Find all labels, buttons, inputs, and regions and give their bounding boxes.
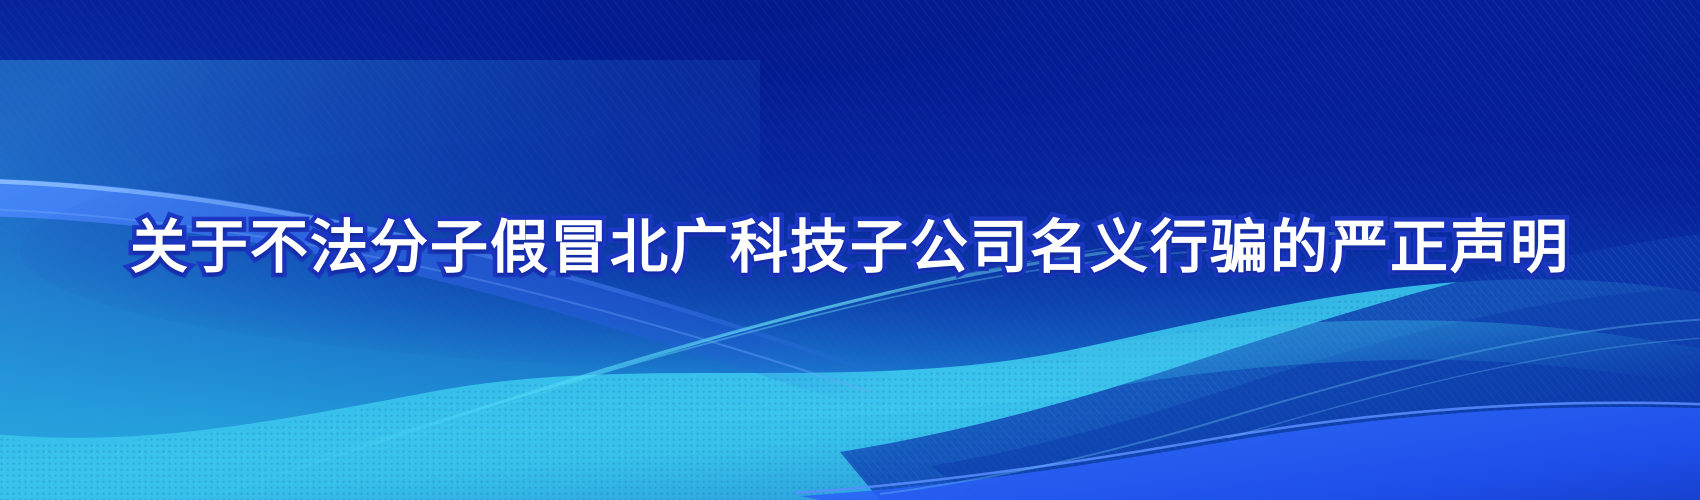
announcement-banner: 关于不法分子假冒北广科技子公司名义行骗的严正声明 xyxy=(0,0,1700,500)
title-vignette xyxy=(0,0,1700,500)
